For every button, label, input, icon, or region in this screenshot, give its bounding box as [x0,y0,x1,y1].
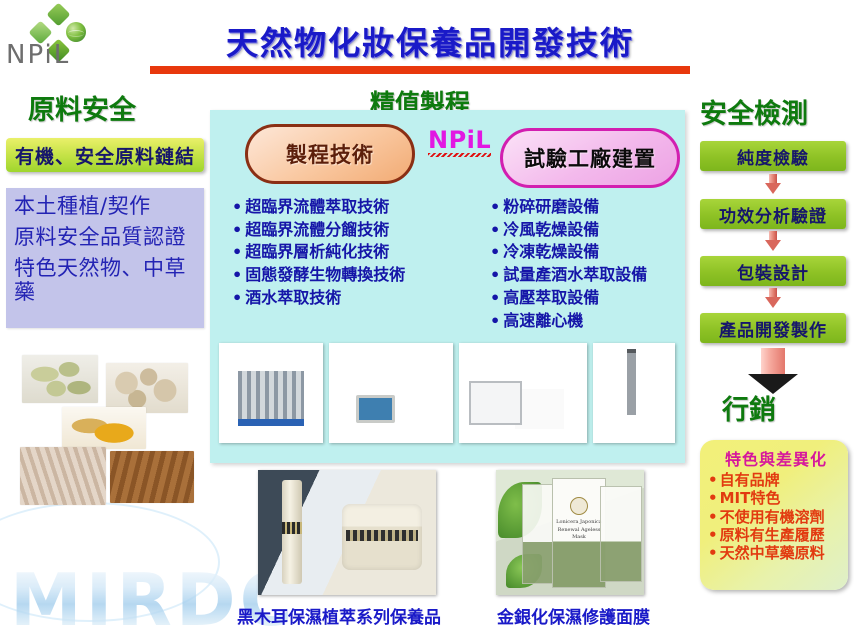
herb-photo-collage [18,355,198,505]
dried-root-slices-photo [20,447,106,505]
raw-material-line: 原料安全品質認證 [14,225,196,250]
list-item: 自有品牌 [708,471,844,489]
pilot-plant-bullet-list: 粉碎研磨設備 冷風乾燥設備 冷凍乾燥設備 試量產酒水萃取設備 高壓萃取設備 高速… [490,196,690,332]
list-item: 超臨界流體萃取技術 [232,196,467,219]
bioreactor-fermenter-photo [593,343,675,443]
cosmetic-bottle-and-cream-jar-photo [258,470,436,595]
step-box-product-development: 產品開發製作 [700,313,846,343]
list-item: 不使用有機溶劑 [708,508,844,526]
mask-pack-text: Lonicera Japonica Renewal Ageless Mask [556,519,602,542]
list-item: 天然中草藥原料 [708,544,844,562]
list-item: 超臨界層析純化技術 [232,241,467,264]
list-item: MIT特色 [708,489,844,507]
list-item: 試量產酒水萃取設備 [490,264,690,287]
right-column-heading: 安全檢測 [700,92,808,131]
step-box-purity-test: 純度檢驗 [700,141,846,171]
mask-pack-side [600,486,642,582]
list-item: 高速離心機 [490,310,690,333]
cardamom-pods-photo [22,355,98,403]
list-item: 酒水萃取技術 [232,287,467,310]
gas-chromatograph-instrument-photo [459,343,587,443]
raw-material-line: 特色天然物、中草藥 [14,256,196,306]
title-divider [150,66,690,74]
cinnamon-sticks-photo [110,451,194,503]
slide-title: 天然物化妝保養品開發技術 [150,18,710,64]
mask-pack-front: Lonicera Japonica Renewal Ageless Mask [552,478,606,588]
list-item: 冷風乾燥設備 [490,219,690,242]
logo-globe-icon [66,22,86,42]
npil-brand-mark: NPiL [428,126,491,154]
step-box-package-design: 包裝設計 [700,256,846,286]
brand-seal-icon [570,497,588,515]
product-caption: 金銀化保濕修護面膜 [497,603,650,628]
down-arrow-icon [765,288,781,308]
turmeric-root-powder-photo [62,407,146,449]
marketing-label: 行銷 [722,388,776,427]
pilot-plant-oval: 試驗工廠建置 [500,128,680,188]
slide-canvas: MIRDC NPiL 天然物化妝保養品開發技術 原料安全 有機、安全原料鏈結 本… [0,0,854,630]
process-panel: 製程技術 NPiL 試驗工廠建置 超臨界流體萃取技術 超臨界流體分餾技術 超臨界… [210,110,685,463]
raw-material-chip: 有機、安全原料鏈結 [6,138,204,172]
product-caption: 黑木耳保濕植萃系列保養品 [237,603,441,628]
logo-diamond-top-icon [46,2,70,26]
raw-material-panel: 本土種植/契作 原料安全品質認證 特色天然物、中草藥 [6,188,204,328]
serum-bottle [282,480,302,584]
pilot-plant-extraction-equipment-photo [219,343,323,443]
cream-jar [342,504,422,570]
differentiation-title: 特色與差異化 [708,446,844,470]
facial-mask-packaging-photo: Lonicera Japonica Renewal Ageless Mask [496,470,644,595]
list-item: 超臨界流體分餾技術 [232,219,467,242]
raw-material-line: 本土種植/契作 [14,194,196,219]
npil-logo: NPiL [6,4,116,66]
down-arrow-icon [765,174,781,194]
logo-wordmark: NPiL [6,40,70,70]
equipment-photo-strip [219,343,677,445]
left-column-heading: 原料安全 [28,88,136,127]
differentiation-box: 特色與差異化 自有品牌 MIT特色 不使用有機溶劑 原料有生產履歷 天然中草藥原… [700,440,848,590]
down-arrow-icon [765,231,781,251]
step-box-efficacy-analysis: 功效分析驗證 [700,199,846,229]
process-tech-bullet-list: 超臨界流體萃取技術 超臨界流體分餾技術 超臨界層析純化技術 固態發酵生物轉換技術… [232,196,467,310]
list-item: 固態發酵生物轉換技術 [232,264,467,287]
process-tech-oval: 製程技術 [245,124,415,184]
benchtop-analyzer-instrument-photo [329,343,453,443]
nutmeg-seeds-photo [106,363,188,413]
list-item: 高壓萃取設備 [490,287,690,310]
list-item: 原料有生產履歷 [708,526,844,544]
list-item: 冷凍乾燥設備 [490,241,690,264]
list-item: 粉碎研磨設備 [490,196,690,219]
